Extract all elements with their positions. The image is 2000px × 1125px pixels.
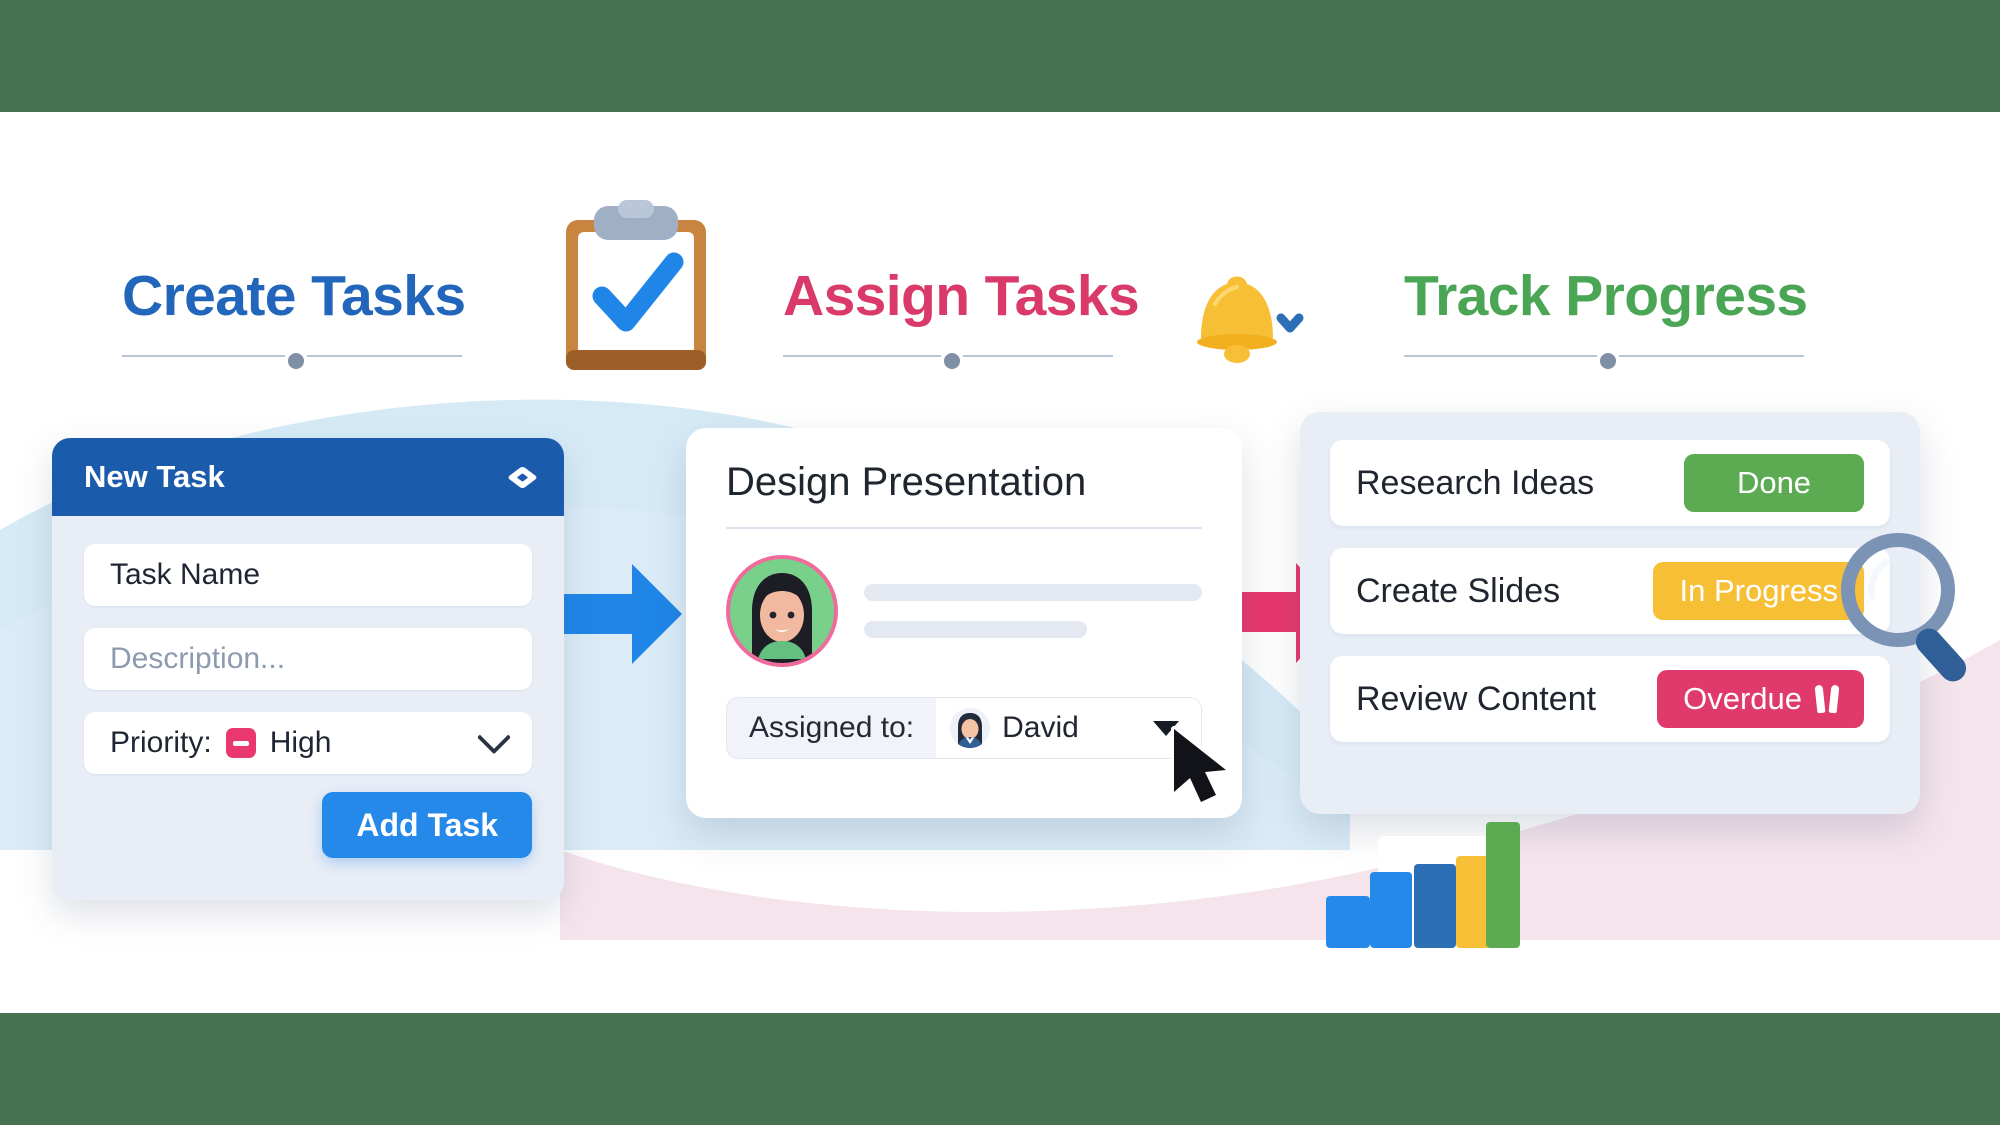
letterbox-bar-top (0, 0, 2000, 112)
step-title-1: Create Tasks (122, 268, 462, 325)
status-badge[interactable]: Done (1684, 454, 1864, 512)
dot-marker-icon (284, 349, 308, 373)
task-label: Create Slides (1356, 572, 1560, 611)
step-title-3: Track Progress (1404, 268, 1804, 325)
letterbox-bar-bottom (0, 1013, 2000, 1125)
step-heading-assign-tasks: Assign Tasks (783, 268, 1113, 365)
new-task-title: New Task (84, 459, 225, 495)
table-row[interactable]: Research Ideas Done (1330, 440, 1890, 526)
flow-arrow-blue (548, 560, 682, 673)
task-name-value: Task Name (110, 558, 260, 592)
diamond-icon[interactable] (507, 465, 538, 488)
notification-bell-icon (1175, 268, 1305, 368)
step-divider-1 (122, 347, 462, 365)
status-badge-text: In Progress (1679, 573, 1838, 609)
table-row[interactable]: Review Content Overdue (1330, 656, 1890, 742)
clipboard-check-icon (556, 200, 716, 380)
design-card-title: Design Presentation (726, 460, 1202, 505)
track-progress-card: Research Ideas Done Create Slides In Pro… (1300, 412, 1920, 814)
step-heading-track-progress: Track Progress (1404, 268, 1804, 365)
priority-select[interactable]: Priority: High (84, 712, 532, 774)
dot-marker-icon (1596, 349, 1620, 373)
design-presentation-card: Design Presentation (686, 428, 1242, 818)
description-placeholder: Description... (110, 642, 285, 676)
table-row[interactable]: Create Slides In Progress (1330, 548, 1890, 634)
status-badge[interactable]: In Progress (1653, 562, 1864, 620)
high-priority-icon (226, 728, 256, 758)
skeleton-line (864, 584, 1202, 601)
bar-chart-icon (1320, 820, 1530, 955)
step-title-2: Assign Tasks (783, 268, 1113, 325)
task-name-input[interactable]: Task Name (84, 544, 532, 606)
user-avatar-female (726, 555, 838, 667)
status-badge-text: Overdue (1683, 681, 1802, 717)
status-badge[interactable]: Overdue (1657, 670, 1864, 728)
user-avatar-male (950, 708, 990, 748)
new-task-card: New Task Task Name Description... Priori… (52, 438, 564, 900)
assigned-to-label: Assigned to: (727, 711, 936, 745)
priority-value: High (270, 726, 332, 760)
step-divider-3 (1404, 347, 1804, 365)
chevron-down-icon[interactable] (477, 720, 511, 754)
assignee-name: David (1002, 711, 1079, 745)
task-label: Review Content (1356, 680, 1596, 719)
design-card-body (726, 555, 1202, 667)
step-heading-create-tasks: Create Tasks (122, 268, 462, 365)
task-label: Research Ideas (1356, 464, 1594, 503)
add-task-button[interactable]: Add Task (322, 792, 532, 858)
overdue-alert-icon (1816, 685, 1838, 713)
new-task-card-header: New Task (52, 438, 564, 516)
magnifying-glass-icon (1836, 528, 1986, 693)
mouse-pointer-icon (1168, 726, 1240, 815)
priority-label: Priority: (110, 726, 212, 760)
design-card-divider (726, 527, 1202, 529)
assignee-dropdown[interactable]: David (936, 698, 1201, 758)
task-detail-placeholder-lines (864, 584, 1202, 638)
skeleton-line (864, 621, 1087, 638)
status-badge-text: Done (1737, 465, 1811, 501)
infographic-canvas: Create Tasks Assign Tasks Track Progress (0, 0, 2000, 1125)
assigned-to-row: Assigned to: David (726, 697, 1202, 759)
dot-marker-icon (940, 349, 964, 373)
step-divider-2 (783, 347, 1113, 365)
description-input[interactable]: Description... (84, 628, 532, 690)
